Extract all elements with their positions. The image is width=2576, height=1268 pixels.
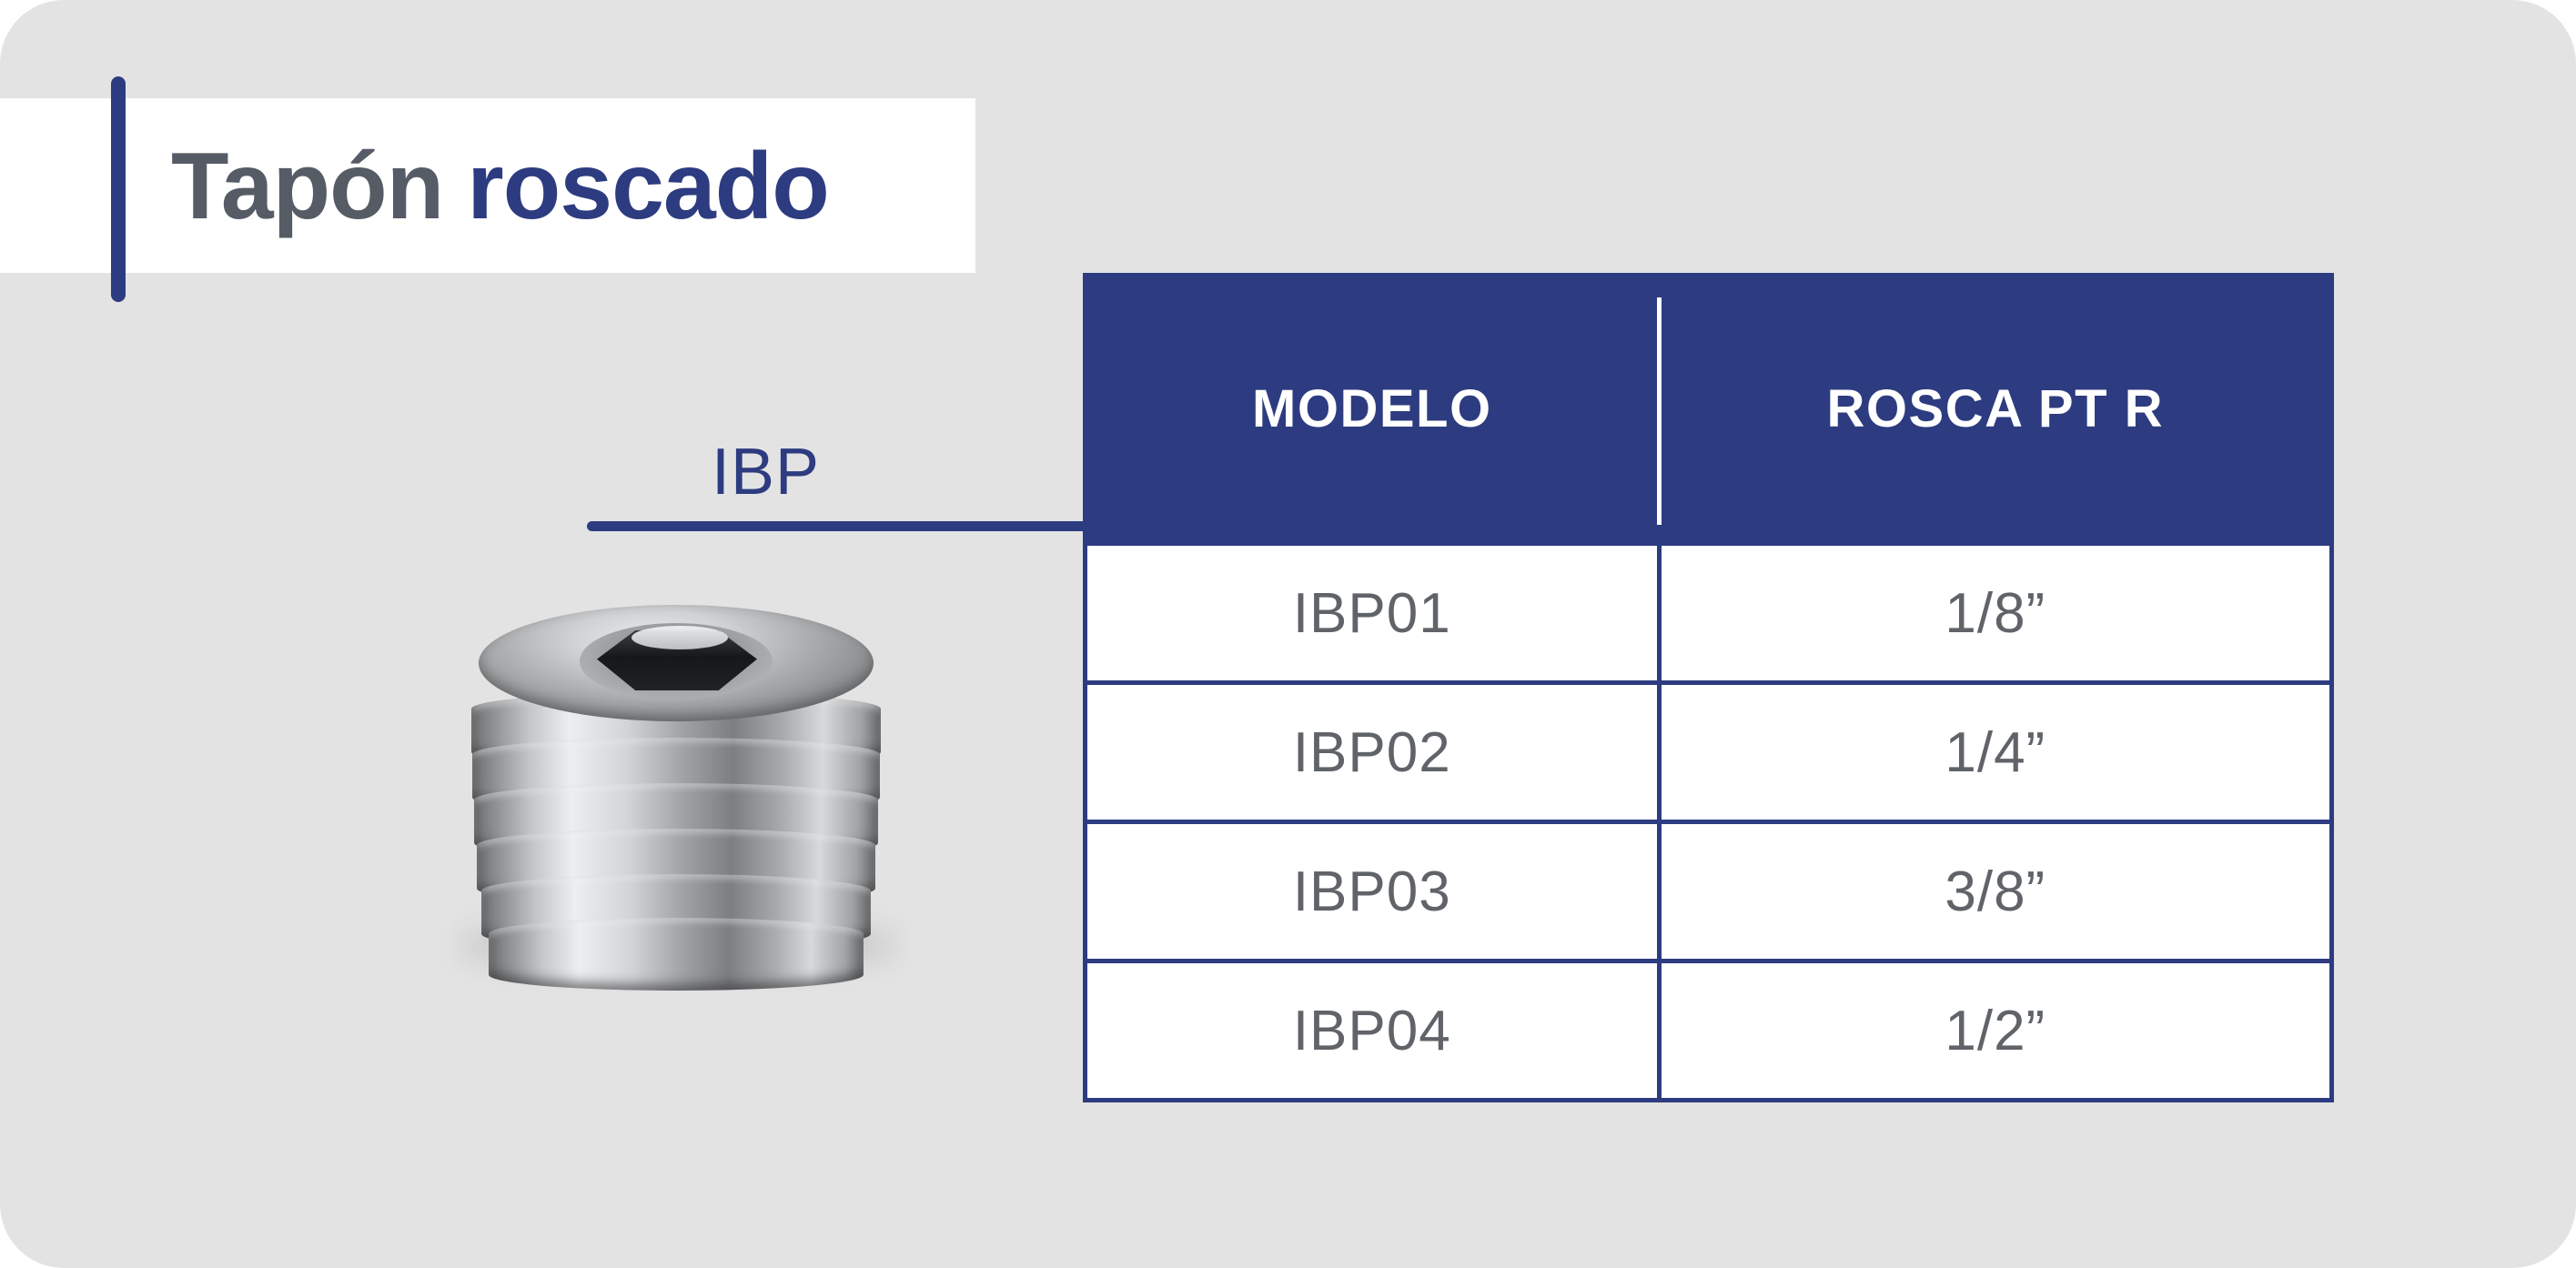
table-body: IBP01 1/8” IBP02 1/4” IBP03 3/8” IBP04 1… (1086, 544, 2332, 1101)
plug-thread-ring (489, 918, 864, 991)
title-accent-bar (111, 76, 126, 302)
page-title-word-primary: Tapón (171, 133, 443, 241)
page-title: Tapón roscado (171, 118, 829, 255)
cell-modelo: IBP01 (1086, 544, 1660, 683)
table-header-row: MODELO ROSCA PT R (1086, 276, 2332, 544)
plug-body (471, 605, 881, 980)
table-row: IBP02 1/4” (1086, 683, 2332, 822)
cell-rosca: 1/2” (1659, 961, 2331, 1101)
table-header: MODELO ROSCA PT R (1086, 276, 2332, 544)
plug-socket-highlight (631, 626, 728, 649)
product-image-threaded-plug (391, 564, 955, 1001)
page-title-word-secondary: roscado (467, 133, 829, 241)
specification-table: MODELO ROSCA PT R IBP01 1/8” IBP02 1/4” … (1083, 273, 2334, 1102)
cell-modelo: IBP04 (1086, 961, 1660, 1101)
product-spec-sheet: Tapón roscado IBP MODELO ROSCA PT R (0, 0, 2576, 1268)
cell-rosca: 3/8” (1659, 822, 2331, 961)
column-header-rosca: ROSCA PT R (1659, 276, 2331, 544)
callout-leader-line (587, 521, 1096, 531)
cell-modelo: IBP02 (1086, 683, 1660, 822)
table-row: IBP04 1/2” (1086, 961, 2332, 1101)
cell-modelo: IBP03 (1086, 822, 1660, 961)
table-row: IBP03 3/8” (1086, 822, 2332, 961)
cell-rosca: 1/8” (1659, 544, 2331, 683)
table-row: IBP01 1/8” (1086, 544, 2332, 683)
product-callout-label: IBP (712, 435, 820, 509)
cell-rosca: 1/4” (1659, 683, 2331, 822)
column-header-modelo: MODELO (1086, 276, 1660, 544)
